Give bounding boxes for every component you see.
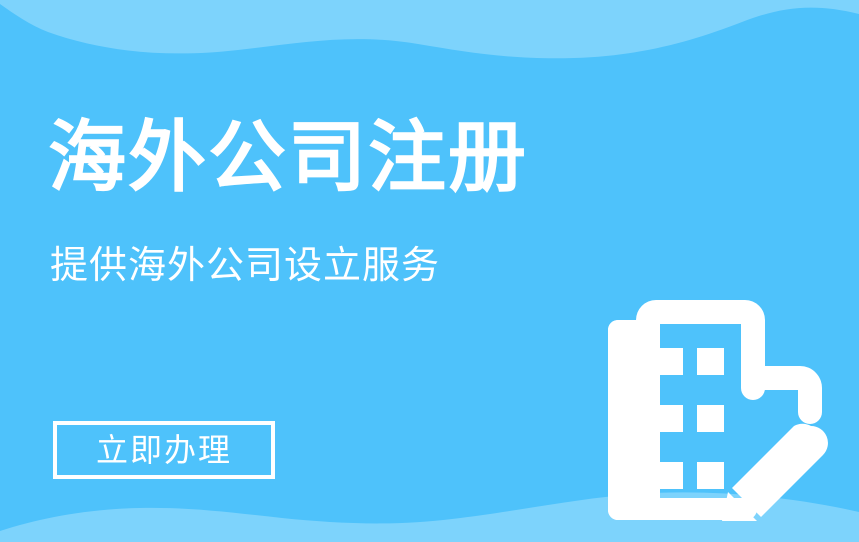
overseas-company-registration-banner: 海外公司注册 提供海外公司设立服务 立即办理	[0, 0, 859, 542]
apply-now-button[interactable]: 立即办理	[53, 421, 275, 479]
page-subtitle: 提供海外公司设立服务	[50, 247, 440, 285]
page-title: 海外公司注册	[48, 118, 528, 196]
building-edit-icon	[608, 300, 828, 522]
apply-now-button-label: 立即办理	[96, 434, 232, 466]
